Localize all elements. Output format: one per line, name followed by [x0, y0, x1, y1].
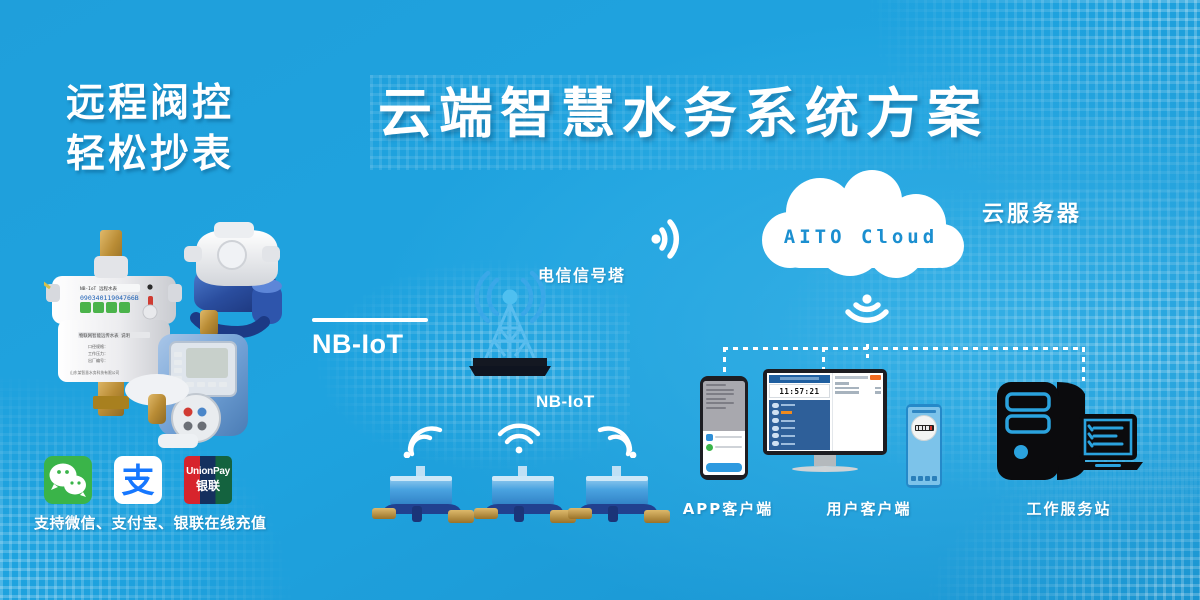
- cloud-name-text: AITO Cloud: [746, 226, 976, 248]
- alipay-icon[interactable]: 支: [114, 456, 162, 504]
- unionpay-icon[interactable]: UnionPay 银联: [184, 456, 232, 504]
- payment-methods-row: 支 UnionPay 银联: [44, 456, 232, 504]
- wifi-signal-icon-meter-1: [400, 424, 446, 458]
- dashboard-device-list: [769, 400, 831, 450]
- smartphone-meter-app-icon[interactable]: [906, 404, 942, 488]
- svg-text:工作压力：: 工作压力：: [88, 350, 108, 356]
- svg-text:口径规格：: 口径规格：: [88, 343, 108, 349]
- client-label-user: 用户客户端: [808, 498, 930, 519]
- alipay-glyph: 支: [122, 464, 155, 497]
- connector-drop-work: [1082, 347, 1085, 381]
- wifi-signal-icon-meter-3: [594, 424, 640, 458]
- connector-bus: [723, 347, 1085, 350]
- svg-text:09034011904766B: 09034011904766B: [80, 294, 139, 302]
- wifi-signal-icon-meter-2: [496, 420, 542, 454]
- phone-top-section: [703, 381, 745, 431]
- connector-drop-app: [723, 347, 726, 377]
- unionpay-cn-text: 银联: [196, 477, 220, 494]
- monitor-bezel: 11:57:21: [763, 369, 887, 455]
- slogan-line-1: 远程阀控: [66, 78, 326, 129]
- payment-caption: 支持微信、支付宝、银联在线充值: [34, 512, 267, 533]
- field-water-meter-1: [370, 462, 476, 532]
- cloud-server-graphic: AITO Cloud: [746, 168, 986, 296]
- desktop-monitor-icon[interactable]: 11:57:21: [763, 369, 887, 473]
- meter-dial-graphic: [911, 415, 937, 441]
- cloud-server-label: 云服务器: [982, 196, 1082, 228]
- dashboard-right-pane: [832, 373, 883, 451]
- phone-payment-sheet: [703, 431, 745, 475]
- svg-text:出厂编号：: 出厂编号：: [88, 357, 108, 363]
- nbiot-primary-text: NB-IoT: [312, 329, 428, 360]
- nbiot-rule: [312, 318, 428, 322]
- dashboard-left-pane: 11:57:21: [767, 373, 832, 451]
- wechat-icon[interactable]: [44, 456, 92, 504]
- smartphone-icon[interactable]: [700, 376, 748, 480]
- featured-meters-group: NB-IoT 远程水表 09034011904766B 物联网智能远传水表 说明…: [36, 222, 306, 452]
- connector-drop-user: [822, 347, 825, 369]
- phone-confirm-button[interactable]: [706, 463, 742, 472]
- svg-text:NB-IoT 远程水表: NB-IoT 远程水表: [80, 285, 117, 292]
- banner-stage: 远程阀控 轻松抄表 云端智慧水务系统方案 AITO Cloud 云服务器: [0, 0, 1200, 600]
- tower-label: 电信信号塔: [538, 262, 626, 286]
- server-workstation-icon[interactable]: [995, 378, 1145, 484]
- svg-text:物联网智能远传水表 说明: 物联网智能远传水表 说明: [79, 332, 131, 339]
- slogan-block: 远程阀控 轻松抄表: [66, 78, 326, 181]
- svg-text:山东某智慧水务科技有限公司: 山东某智慧水务科技有限公司: [70, 370, 120, 375]
- nbiot-secondary-label: NB-IoT: [536, 392, 595, 412]
- phone-screen: [703, 381, 745, 475]
- monitor-base: [792, 466, 858, 472]
- page-title: 云端智慧水务系统方案: [378, 84, 988, 144]
- dashboard-clock: 11:57:21: [769, 384, 831, 398]
- water-meter-accessory: [122, 368, 192, 426]
- wifi-signal-icon-uplink: [648, 208, 704, 270]
- nbiot-primary-label: NB-IoT: [312, 318, 428, 360]
- field-water-meter-2: [472, 462, 578, 532]
- client-label-work: 工作服务站: [1008, 498, 1130, 519]
- field-water-meter-3: [566, 462, 672, 532]
- monitor-stand: [814, 455, 836, 466]
- monitor-screen: 11:57:21: [767, 373, 883, 451]
- dashboard-action-button[interactable]: [870, 375, 881, 380]
- wifi-signal-icon-downlink: [836, 292, 898, 346]
- meter-app-screen: [908, 407, 940, 485]
- unionpay-latin-text: UnionPay: [186, 466, 230, 477]
- client-label-app: APP客户端: [676, 498, 780, 519]
- dashboard-header: [769, 375, 831, 383]
- slogan-line-2: 轻松抄表: [66, 129, 326, 180]
